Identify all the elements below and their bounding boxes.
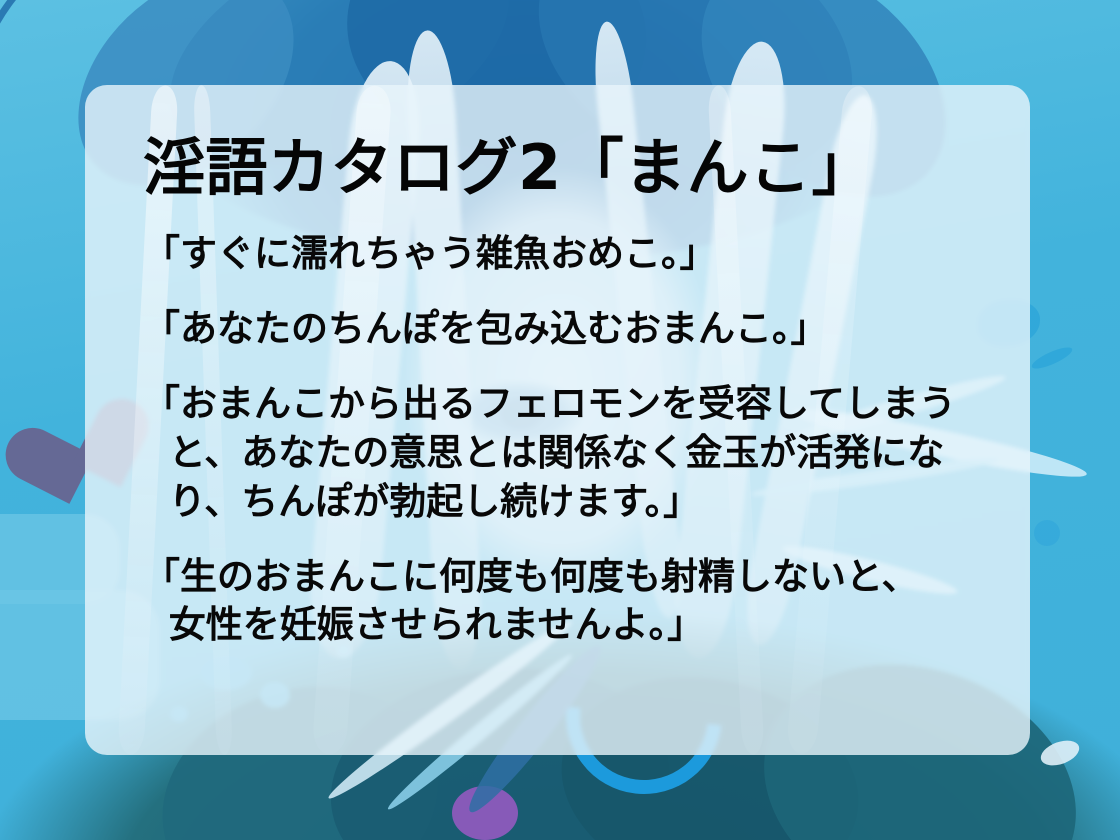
page-title: 淫語カタログ2「まんこ」 — [143, 133, 996, 202]
phrase-list: 「すぐに濡れちゃう雑魚おめこ。」 「あなたのちんぽを包み込むおまんこ。」 「おま… — [143, 230, 996, 650]
phrase-item: 「すぐに濡れちゃう雑魚おめこ。」 — [143, 230, 996, 279]
water-splash-shape — [1034, 520, 1060, 546]
phrase-item: 「おまんこから出るフェロモンを受容してしまう と、あなたの意思とは関係なく金玉が… — [143, 380, 996, 526]
card-content: 淫語カタログ2「まんこ」 「すぐに濡れちゃう雑魚おめこ。」 「あなたのちんぽを包… — [85, 85, 1030, 650]
cover-card-image: 淫語カタログ2「まんこ」 「すぐに濡れちゃう雑魚おめこ。」 「あなたのちんぽを包… — [0, 0, 1120, 840]
phrase-item: 「あなたのちんぽを包み込むおまんこ。」 — [143, 305, 996, 354]
content-card: 淫語カタログ2「まんこ」 「すぐに濡れちゃう雑魚おめこ。」 「あなたのちんぽを包… — [85, 85, 1030, 755]
phrase-item: 「生のおまんこに何度も何度も射精しないと、 女性を妊娠させられませんよ。」 — [143, 553, 996, 651]
